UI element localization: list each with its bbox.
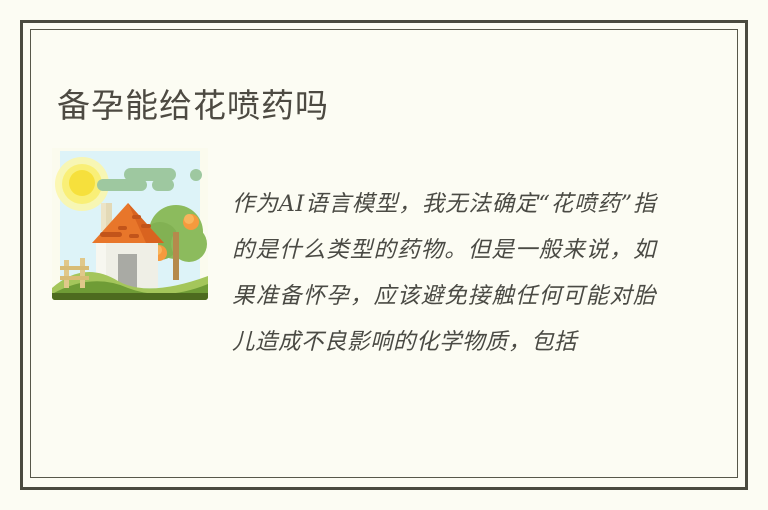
house-countryside-icon <box>52 148 208 300</box>
article-body-text: 作为AI语言模型，我无法确定“花喷药”指的是什么类型的药物。但是一般来说，如果准… <box>232 181 656 365</box>
page-title: 备孕能给花喷药吗 <box>57 84 329 128</box>
illustration-thumbnail <box>52 148 208 300</box>
page-root: 备孕能给花喷药吗 <box>0 0 768 510</box>
article-content: 备孕能给花喷药吗 <box>0 0 768 510</box>
